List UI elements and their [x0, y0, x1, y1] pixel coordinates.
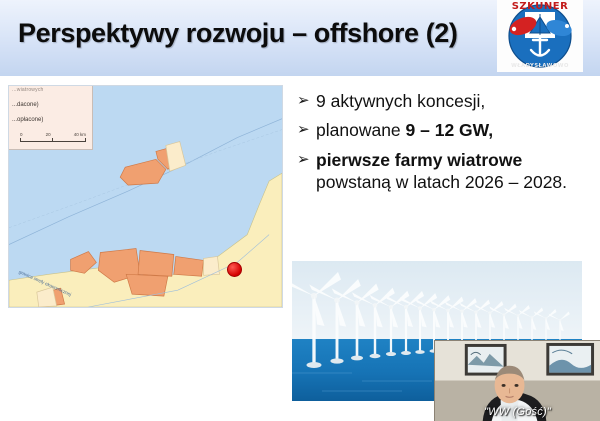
- scale-tick: 40 km: [74, 132, 86, 137]
- bullet-text: planowane 9 – 12 GW,: [316, 119, 587, 141]
- bullet-text-plain: powstaną w latach 2026 – 2028.: [316, 172, 567, 192]
- wladyslawowo-marker: [227, 262, 242, 277]
- participant-video-tile[interactable]: "WW (Gość)": [434, 340, 600, 421]
- bullet-text: pierwsze farmy wiatrowe powstaną w latac…: [316, 149, 587, 194]
- page-title: Perspektywy rozwoju – offshore (2): [18, 18, 488, 49]
- bullet-arrow-icon: ➢: [297, 90, 316, 111]
- szkuner-logo: SZKUNER WŁADYSŁAWOWO: [497, 0, 583, 72]
- bullet-list: ➢ 9 aktywnych koncesji, ➢ planowane 9 – …: [297, 90, 587, 201]
- scale-tick: 0: [20, 132, 23, 137]
- map-scale-bar: 0 20 40 km: [20, 132, 86, 142]
- bullet-arrow-icon: ➢: [297, 119, 316, 140]
- legend-header: ...wiatrowych: [12, 87, 89, 93]
- legend-row: ...dacone): [12, 102, 89, 108]
- svg-text:WŁADYSŁAWOWO: WŁADYSŁAWOWO: [511, 63, 569, 69]
- scale-tick: 20: [46, 132, 51, 137]
- presentation-slide-view: Perspektywy rozwoju – offshore (2) SZKUN…: [0, 0, 600, 421]
- bullet-text-plain: planowane: [316, 120, 406, 140]
- bullet-text-bold: 9 – 12 GW,: [406, 120, 494, 140]
- list-item: ➢ planowane 9 – 12 GW,: [297, 119, 587, 141]
- svg-text:SZKUNER: SZKUNER: [512, 1, 569, 12]
- map-legend: ...wiatrowych ...dacone) ...opłacone) 0 …: [8, 85, 93, 150]
- list-item: ➢ pierwsze farmy wiatrowe powstaną w lat…: [297, 149, 587, 194]
- list-item: ➢ 9 aktywnych koncesji,: [297, 90, 587, 112]
- bullet-arrow-icon: ➢: [297, 149, 316, 170]
- bullet-text: 9 aktywnych koncesji,: [316, 90, 587, 112]
- bullet-text-bold: pierwsze farmy wiatrowe: [316, 150, 522, 170]
- legend-row: ...opłacone): [12, 117, 89, 123]
- offshore-concessions-map: ...wiatrowych ...dacone) ...opłacone) 0 …: [8, 85, 283, 308]
